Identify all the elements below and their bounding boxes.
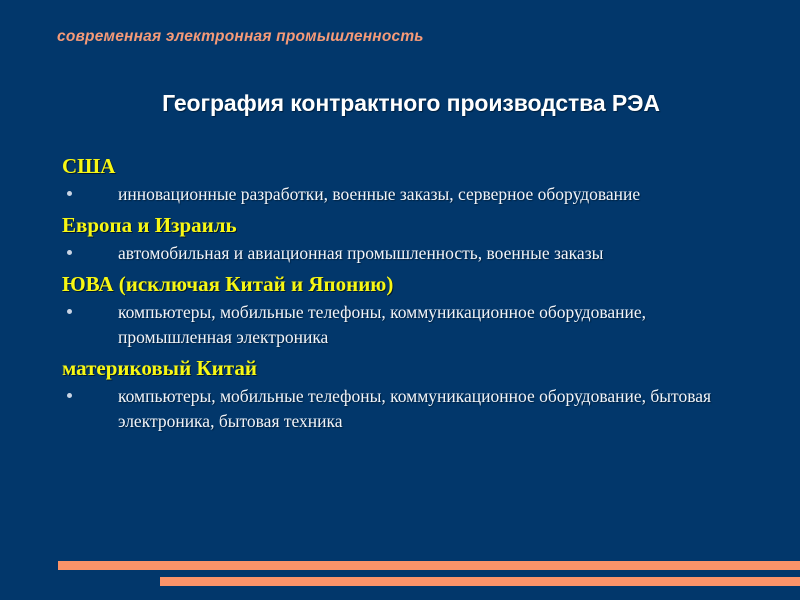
- section-heading: ЮВА (исключая Китай и Японию): [62, 270, 752, 299]
- footer-accent-bar-bottom: [160, 577, 800, 586]
- bullet-item: компьютеры, мобильные телефоны, коммуник…: [62, 384, 752, 434]
- bullet-dot-icon: [62, 182, 118, 196]
- bullet-dot-icon: [62, 384, 118, 398]
- bullet-dot-icon: [62, 241, 118, 255]
- bullet-item: инновационные разработки, военные заказы…: [62, 182, 752, 207]
- content-section-europe-israel: Европа и Израиль автомобильная и авиацио…: [62, 211, 752, 266]
- content-section-mainland-china: материковый Китай компьютеры, мобильные …: [62, 354, 752, 434]
- content-section-sea: ЮВА (исключая Китай и Японию) компьютеры…: [62, 270, 752, 350]
- bullet-text: инновационные разработки, военные заказы…: [118, 182, 723, 207]
- presentation-slide: современная электронная промышленность Г…: [0, 0, 800, 600]
- section-heading: США: [62, 152, 752, 181]
- section-heading: Европа и Израиль: [62, 211, 752, 240]
- bullet-text: компьютеры, мобильные телефоны, коммуник…: [118, 300, 723, 350]
- slide-content-body: США инновационные разработки, военные за…: [62, 152, 752, 438]
- bullet-text: компьютеры, мобильные телефоны, коммуник…: [118, 384, 723, 434]
- slide-title: География контрактного производства РЭА: [0, 90, 800, 117]
- bullet-text: автомобильная и авиационная промышленнос…: [118, 241, 723, 266]
- bullet-item: автомобильная и авиационная промышленнос…: [62, 241, 752, 266]
- bullet-item: компьютеры, мобильные телефоны, коммуник…: [62, 300, 752, 350]
- slide-running-header: современная электронная промышленность: [57, 28, 424, 46]
- footer-accent-bar-top: [58, 561, 800, 570]
- bullet-dot-icon: [62, 300, 118, 314]
- content-section-usa: США инновационные разработки, военные за…: [62, 152, 752, 207]
- section-heading: материковый Китай: [62, 354, 752, 383]
